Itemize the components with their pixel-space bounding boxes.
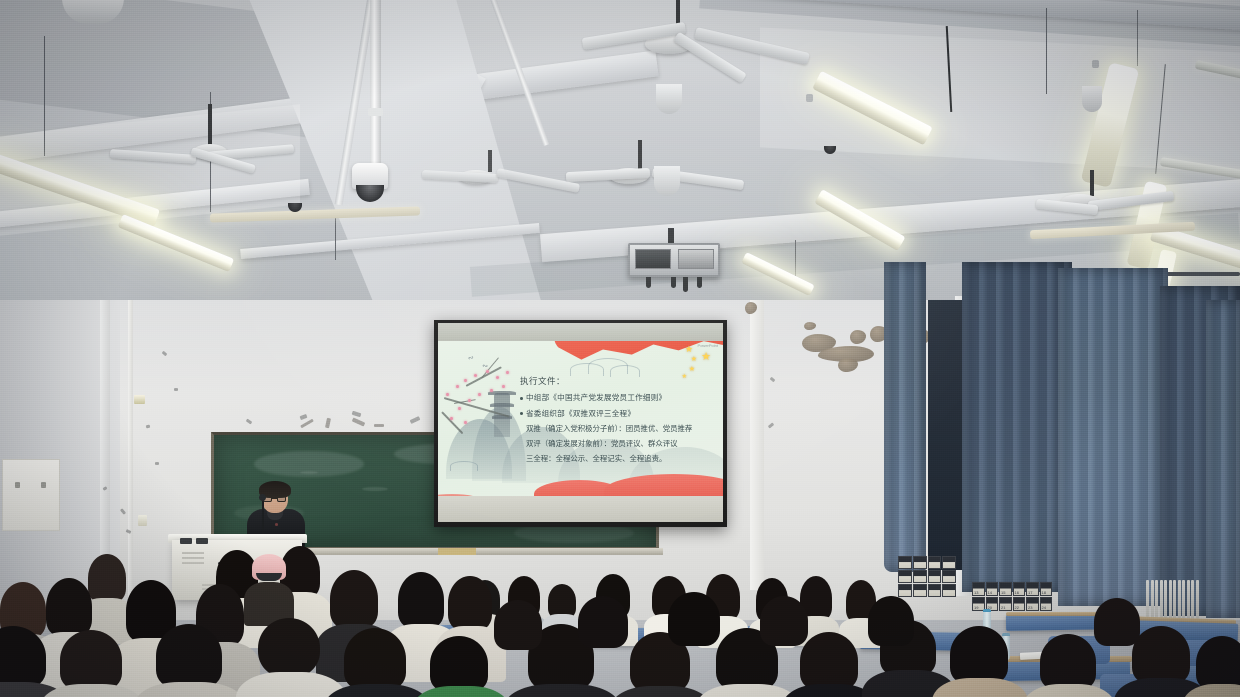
slide-subline: 三全程：全程公示、全程记实、全程追责。 [526, 453, 720, 464]
wall-switch[interactable] [134, 395, 145, 404]
lamp-shade [1082, 86, 1102, 112]
powerpoint-badge: PowerPoint [698, 343, 718, 348]
presentation-slide: ∾ ∾ ★ ★ ★ ★ ★ 执行文件： 中组部《中国共产党发展党员工作细则》 省… [438, 341, 723, 496]
flag-star-icon: ★ [701, 353, 711, 362]
slide-bullet-text: 省委组织部《双推双评三全程》 [526, 409, 635, 418]
bird-icon: ∾ [482, 363, 489, 371]
bird-icon: ∾ [467, 354, 474, 362]
lamp-shade [654, 166, 680, 196]
audience-seating [0, 540, 1240, 697]
slide-subline: 双评（确定发展对象前）：党员评议、群众评议 [526, 438, 720, 449]
eyeglasses-icon [263, 496, 287, 502]
slide-subline: 双推（确定入党积极分子前）：团员推优、党员推荐 [526, 423, 720, 434]
ceiling-fan [620, 0, 800, 96]
slide-bullet-text: 中组部《中国共产党发展党员工作细则》 [526, 393, 666, 402]
wall-outlet[interactable] [138, 515, 147, 526]
flag-star-icon: ★ [689, 365, 695, 374]
screen-bottom-bar [438, 496, 723, 522]
ceiling-fan [450, 150, 600, 220]
fluorescent-tube [118, 214, 235, 272]
dome-camera-small [824, 146, 836, 154]
flag-star-icon: ★ [685, 345, 693, 354]
light-cord [1137, 10, 1138, 66]
ceiling-fan [150, 104, 270, 170]
flag-star-icon: ★ [691, 355, 697, 364]
slide-bullet: 中组部《中国共产党发展党员工作细则》 [520, 392, 720, 403]
slide-heading: 执行文件： [520, 375, 720, 387]
cap-brim [256, 573, 282, 581]
ceiling-fan [1060, 170, 1200, 242]
slide-bullet: 省委组织部《双推双评三全程》 [520, 408, 720, 419]
notice-board [2, 459, 60, 531]
lamp-shade [656, 84, 682, 114]
camera-pole [370, 0, 381, 166]
window-curtain[interactable] [884, 262, 926, 572]
lecture-hall-photo: 13 14 15 16 17 18 19 20 21 22 23 24 [0, 0, 1240, 697]
screen-top-strip [438, 323, 723, 341]
slide-text-block: 执行文件： 中组部《中国共产党发展党员工作细则》 省委组织部《双推双评三全程》 … [520, 375, 720, 468]
microphone-icon [259, 494, 266, 501]
ceiling-projector [628, 243, 720, 277]
ceiling-fan [602, 140, 762, 220]
window-recess [928, 300, 964, 570]
